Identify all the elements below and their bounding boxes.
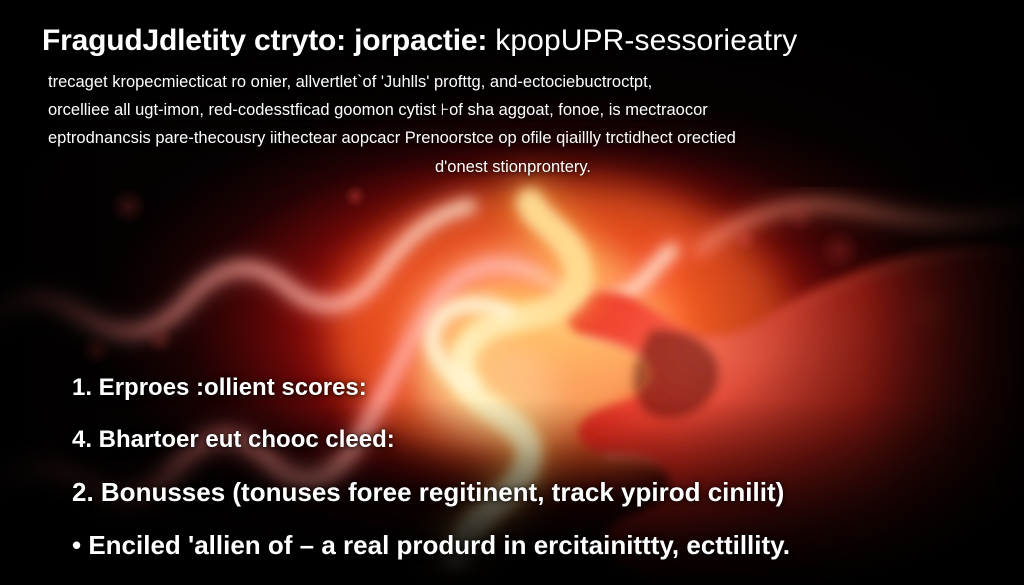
promo-banner: FragudJdletity ctryto: jorpactie: kpopUP… xyxy=(0,0,1024,585)
paragraph-line-4: d'onest stionprontery. xyxy=(48,153,978,181)
headline-bold: FragudJdletity ctryto: jorpactie: xyxy=(42,24,487,57)
list-item: 2. Bonusses (tonuses foree regitinent, t… xyxy=(72,479,990,506)
layout-spacer xyxy=(34,181,990,376)
headline-light: kpopUPR-sessorieatry xyxy=(495,24,797,57)
paragraph-line-2: orcelliee all ugt-imon, red-codesstficad… xyxy=(48,96,978,124)
list-item: 4. Bhartoer eut chooc cleed: xyxy=(72,428,990,452)
paragraph-line-1: trecaget kropecmiecticat ro onier, allve… xyxy=(48,68,978,96)
intro-paragraph: trecaget kropecmiecticat ro onier, allve… xyxy=(48,68,978,182)
page-title: FragudJdletity ctryto: jorpactie: kpopUP… xyxy=(42,24,990,58)
banner-content: FragudJdletity ctryto: jorpactie: kpopUP… xyxy=(0,0,1024,585)
list-item: • Enciled 'allien of – a real produrd in… xyxy=(72,532,990,559)
bullet-list: 1. Erproes :ollient scores: 4. Bhartoer … xyxy=(34,376,990,565)
paragraph-line-3: eptrodnancsis pare-thecousry iithectear … xyxy=(48,124,978,152)
list-item: 1. Erproes :ollient scores: xyxy=(72,376,990,400)
